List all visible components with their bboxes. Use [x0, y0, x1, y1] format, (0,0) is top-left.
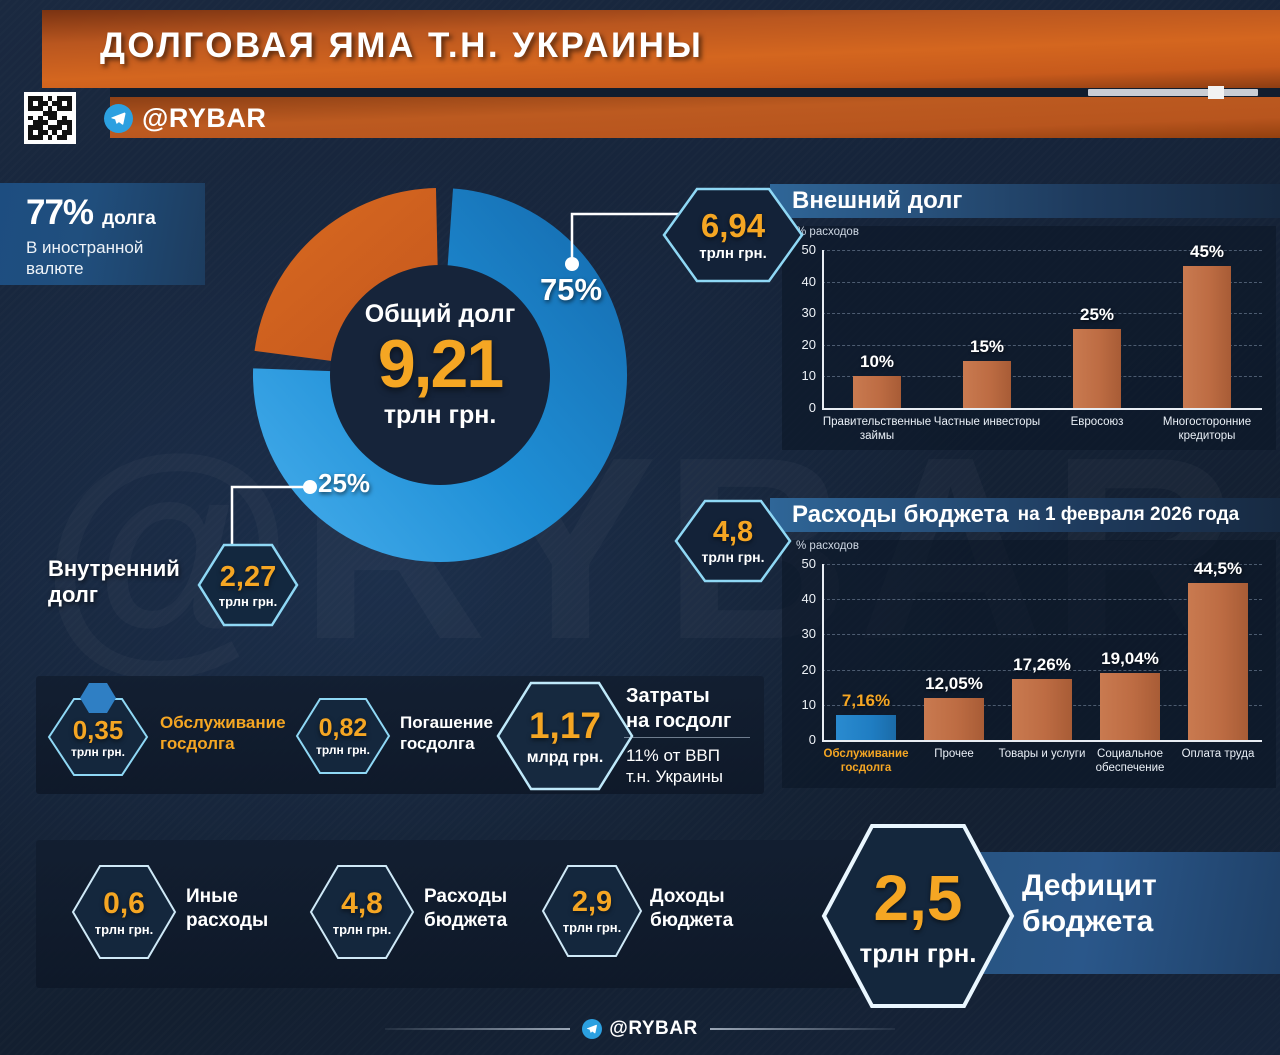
debt-total-cost-label: Затраты на госдолг — [626, 684, 731, 734]
category-label: Евросоюз — [1038, 415, 1156, 429]
deficit-unit: трлн грн. — [859, 940, 976, 966]
budget-expenses-row-label: Расходы бюджета — [424, 885, 507, 933]
y-axis-tick: 30 — [792, 626, 816, 641]
category-label: Прочее — [906, 747, 1002, 761]
qr-code-icon[interactable] — [24, 92, 76, 144]
debt-service-value: 0,35 — [73, 717, 124, 743]
budget-expenses-row-value: 4,8 — [341, 889, 383, 919]
budget-chart-title: Расходы бюджета — [792, 501, 1009, 529]
external-debt-value: 6,94 — [701, 209, 765, 242]
y-axis-tick: 20 — [792, 337, 816, 352]
x-axis — [822, 740, 1262, 742]
budget-chart-subtitle: на 1 февраля 2026 года — [1018, 504, 1240, 526]
bar — [1183, 266, 1231, 408]
budget-chart-title-bar: Расходы бюджета на 1 февраля 2026 года — [770, 498, 1280, 532]
foreign-share-percent: 77% — [26, 193, 93, 233]
bar-value-label: 44,5% — [1163, 559, 1273, 579]
debt-service-label: Обслуживание госдолга — [160, 712, 286, 755]
y-axis — [822, 564, 824, 740]
budget-expenses-unit: трлн грн. — [701, 550, 764, 564]
budget-expenses-row-hexagon: 4,8 трлн грн. — [308, 863, 416, 961]
telegram-icon — [104, 104, 133, 133]
category-label: Товары и услуги — [994, 747, 1090, 761]
bar-value-label: 12,05% — [899, 674, 1009, 694]
bar — [1012, 679, 1072, 740]
internal-debt-label: Внутренний долг — [48, 556, 180, 609]
debt-total-cost-unit: млрд грн. — [527, 750, 604, 766]
y-axis-tick: 40 — [792, 591, 816, 606]
category-label: Частные инвесторы — [928, 415, 1046, 429]
debt-repayment-label: Погашение госдолга — [400, 712, 493, 755]
x-axis — [822, 408, 1262, 410]
other-expenses-value: 0,6 — [103, 889, 145, 919]
debt-total-cost-value: 1,17 — [529, 707, 601, 744]
bar — [1100, 673, 1160, 740]
y-axis-tick: 30 — [792, 305, 816, 320]
bar-value-label: 15% — [932, 337, 1042, 357]
debt-total-cost-divider — [624, 737, 750, 738]
telegram-channel-name: @RYBAR — [142, 103, 266, 134]
bar-value-label: 10% — [822, 352, 932, 372]
external-debt-hexagon: 6,94 трлн грн. — [661, 186, 805, 284]
deficit-value: 2,5 — [874, 866, 963, 930]
footer-line-left — [385, 1028, 570, 1030]
y-axis-tick: 0 — [792, 732, 816, 747]
foreign-share-word: долга — [102, 208, 156, 230]
debt-total-cost-hexagon: 1,17 млрд грн. — [495, 680, 635, 792]
footer: @RYBAR — [0, 1012, 1280, 1046]
internal-debt-value: 2,27 — [220, 563, 276, 592]
deficit-hexagon: 2,5 трлн грн. — [820, 822, 1016, 1010]
budget-revenue-unit: трлн грн. — [563, 921, 622, 934]
y-axis-tick: 50 — [792, 556, 816, 571]
bar — [1188, 583, 1248, 740]
y-axis-tick: 0 — [792, 400, 816, 415]
debt-repayment-value: 0,82 — [319, 716, 368, 741]
debt-repayment-hexagon: 0,82 трлн грн. — [294, 696, 392, 776]
telegram-icon — [582, 1019, 602, 1039]
y-axis — [822, 250, 824, 408]
budget-revenue-label: Доходы бюджета — [650, 885, 733, 933]
bar — [924, 698, 984, 740]
external-debt-chart-title-bar: Внешний долг — [770, 184, 1280, 218]
budget-revenue-hexagon: 2,9 трлн грн. — [540, 863, 644, 959]
internal-debt-unit: трлн грн. — [219, 595, 278, 608]
progress-bar-track[interactable] — [1088, 89, 1258, 96]
donut-internal-percent: 25% — [318, 468, 370, 499]
donut-external-percent: 75% — [540, 272, 602, 308]
external-debt-chart-title: Внешний долг — [792, 187, 962, 215]
y-axis-tick: 20 — [792, 662, 816, 677]
bar — [853, 376, 901, 408]
bar-value-label: 45% — [1152, 242, 1262, 262]
other-expenses-hexagon: 0,6 трлн грн. — [70, 863, 178, 961]
category-label: Правительственные займы — [818, 415, 936, 444]
bar-value-label: 7,16% — [811, 691, 921, 711]
other-expenses-unit: трлн грн. — [95, 923, 154, 936]
external-debt-unit: трлн грн. — [699, 246, 767, 261]
foreign-currency-share-panel: 77% долга В иностранной валюте — [0, 183, 205, 285]
foreign-share-caption: В иностранной валюте — [26, 238, 205, 279]
category-label: Обслуживание госдолга — [818, 747, 914, 776]
other-expenses-label: Иные расходы — [186, 885, 268, 933]
bar-value-label: 19,04% — [1075, 649, 1185, 669]
category-label: Оплата труда — [1170, 747, 1266, 761]
category-label: Многосторонние кредиторы — [1148, 415, 1266, 444]
debt-service-blue-marker-icon — [79, 682, 117, 714]
debt-total-cost-note: 11% от ВВП т.н. Украины — [626, 745, 723, 788]
bar — [836, 715, 896, 740]
footer-telegram-badge[interactable]: @RYBAR — [582, 1018, 697, 1040]
progress-bar-knob[interactable] — [1208, 86, 1224, 99]
donut-center-value: 9,21 — [240, 325, 640, 403]
bar — [963, 361, 1011, 408]
budget-revenue-value: 2,9 — [572, 888, 612, 917]
header-subbanner — [110, 96, 1280, 138]
footer-line-right — [710, 1028, 895, 1030]
deficit-label: Дефицит бюджета — [1022, 868, 1157, 940]
footer-channel-name: @RYBAR — [609, 1018, 697, 1040]
budget-expenses-hexagon: 4,8 трлн грн. — [673, 498, 793, 584]
budget-expenses-row-unit: трлн грн. — [333, 923, 392, 936]
y-axis-tick: 10 — [792, 368, 816, 383]
page-title: ДОЛГОВАЯ ЯМА Т.Н. УКРАИНЫ — [100, 26, 703, 66]
telegram-channel-badge[interactable]: @RYBAR — [104, 103, 266, 134]
debt-service-unit: трлн грн. — [71, 746, 125, 758]
donut-center-unit: трлн грн. — [240, 401, 640, 430]
debt-repayment-unit: трлн грн. — [316, 744, 370, 756]
bar-value-label: 25% — [1042, 305, 1152, 325]
category-label: Социальное обеспечение — [1082, 747, 1178, 776]
internal-debt-hexagon: 2,27 трлн грн. — [196, 542, 300, 628]
bar — [1073, 329, 1121, 408]
budget-expenses-value: 4,8 — [713, 518, 753, 547]
